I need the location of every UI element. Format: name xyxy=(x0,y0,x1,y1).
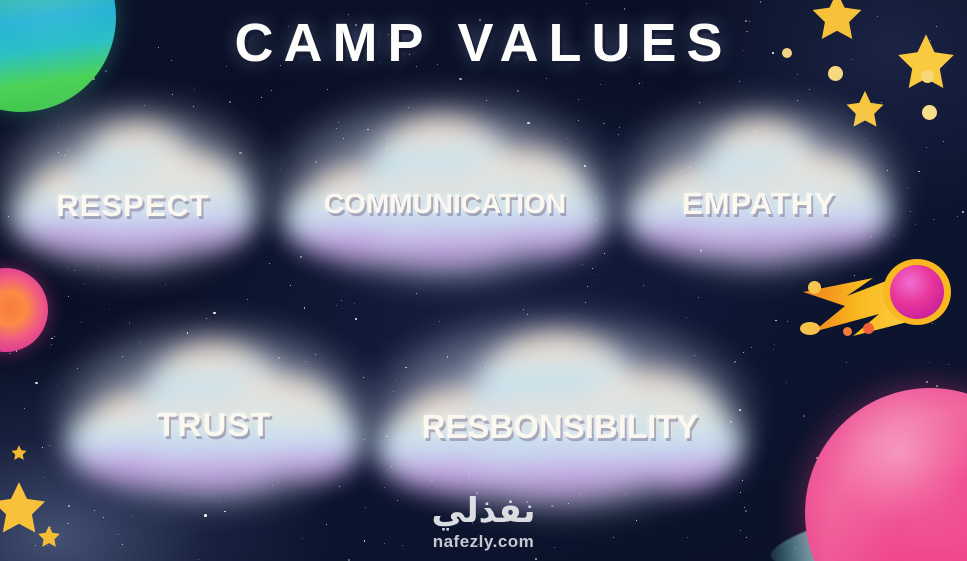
value-label: TRUST xyxy=(68,406,360,444)
page-title: CAMP VALUES xyxy=(0,12,967,74)
glow-dot xyxy=(800,322,820,335)
pink-ringed-planet-icon xyxy=(805,388,967,561)
value-cloud-respect[interactable]: RESPECT xyxy=(8,112,258,262)
value-cloud-resbonsibility[interactable]: RESBONSIBILITY xyxy=(378,326,742,502)
camp-values-poster: CAMP VALUES RESPECT COMMUNICATION xyxy=(0,0,967,561)
glow-dot xyxy=(808,281,821,294)
value-cloud-empathy[interactable]: EMPATHY xyxy=(628,112,890,262)
value-label: RESPECT xyxy=(8,188,258,224)
yellow-star-icon xyxy=(10,444,28,467)
value-label: RESBONSIBILITY xyxy=(378,408,742,446)
pink-orange-planet-icon xyxy=(0,268,48,352)
yellow-star-icon xyxy=(36,524,62,555)
cloud-shape xyxy=(8,112,258,262)
glow-dot xyxy=(922,105,937,120)
value-label: COMMUNICATION xyxy=(285,188,605,220)
value-cloud-trust[interactable]: TRUST xyxy=(68,334,360,494)
value-cloud-communication[interactable]: COMMUNICATION xyxy=(285,108,605,270)
glow-dot xyxy=(863,323,874,334)
value-label: EMPATHY xyxy=(628,186,890,222)
glow-dot xyxy=(843,327,852,336)
